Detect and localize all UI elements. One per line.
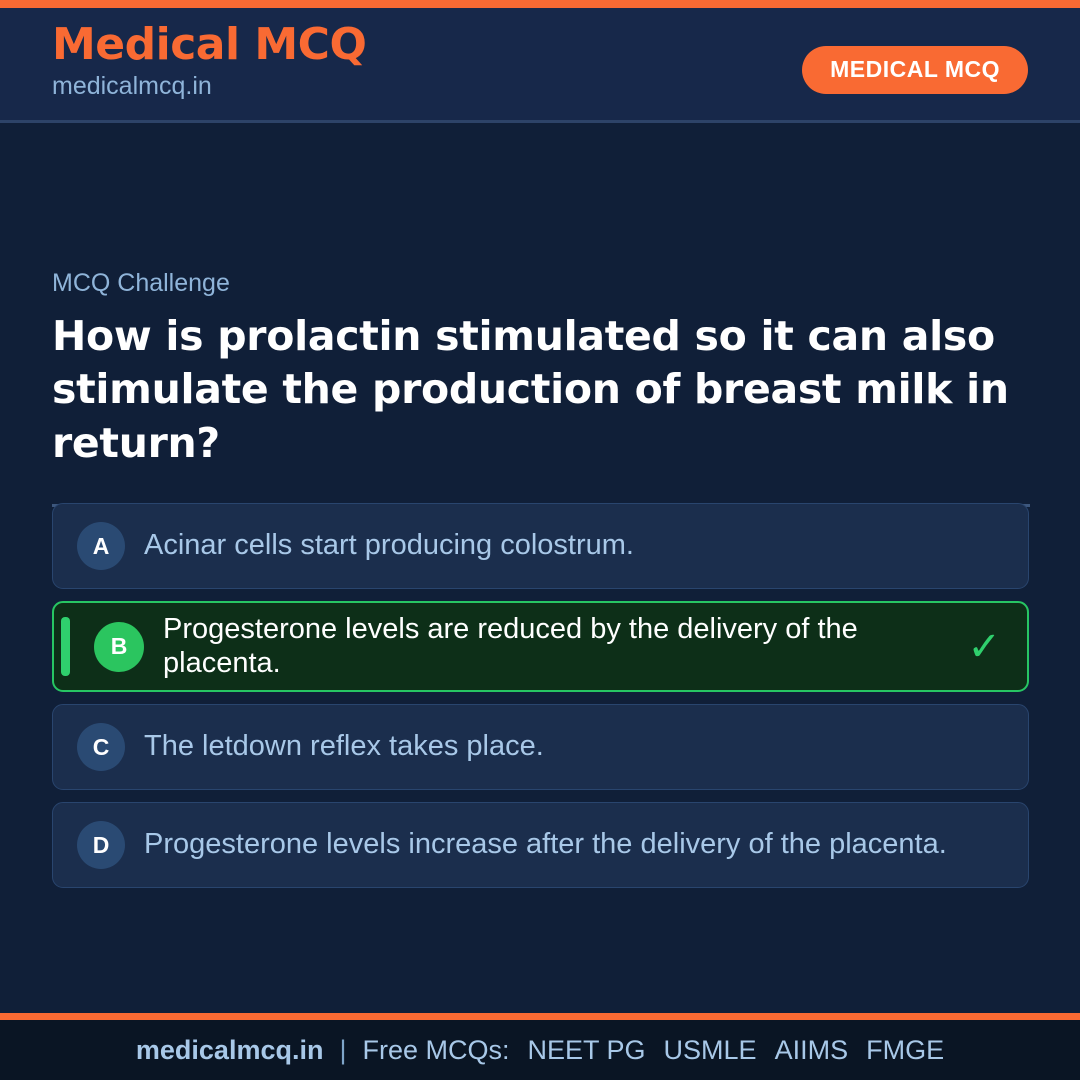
option-text: The letdown reflex takes place. [144,730,544,764]
option-letter-badge: C [77,723,125,771]
footer-exam-neetpg[interactable]: NEET PG [528,1035,646,1066]
option-card-c[interactable]: C The letdown reflex takes place. ✓ [52,704,1029,790]
question-text: How is prolactin stimulated so it can al… [52,310,1030,470]
footer-exam-usmle[interactable]: USMLE [664,1035,757,1066]
footer-separator: | [339,1035,346,1066]
option-card-a[interactable]: A Acinar cells start producing colostrum… [52,503,1029,589]
header-divider [0,120,1080,123]
footer-accent-bar [0,1013,1080,1020]
brand-subtitle: medicalmcq.in [52,71,366,101]
question-eyebrow-label: MCQ Challenge [52,268,1030,298]
options-list: A Acinar cells start producing colostrum… [52,503,1029,900]
header-badge: MEDICAL MCQ [802,46,1028,94]
correct-accent-bar [61,617,70,676]
option-letter-badge: D [77,821,125,869]
option-letter-badge: B [94,622,144,672]
footer-exam-fmge[interactable]: FMGE [866,1035,944,1066]
option-text: Progesterone levels are reduced by the d… [163,613,967,680]
top-accent-bar [0,0,1080,8]
brand-title: Medical MCQ [52,20,366,69]
option-text: Acinar cells start producing colostrum. [144,529,634,563]
footer-site-link[interactable]: medicalmcq.in [136,1035,324,1066]
question-section: MCQ Challenge How is prolactin stimulate… [52,268,1030,507]
brand-block: Medical MCQ medicalmcq.in [52,20,366,101]
option-card-d[interactable]: D Progesterone levels increase after the… [52,802,1029,888]
option-letter-badge: A [77,522,125,570]
option-card-b[interactable]: B Progesterone levels are reduced by the… [52,601,1029,692]
footer-band: medicalmcq.in | Free MCQs: NEET PG USMLE… [0,1013,1080,1080]
option-text: Progesterone levels increase after the d… [144,828,947,862]
footer-exam-aiims[interactable]: AIIMS [775,1035,849,1066]
footer-label: Free MCQs: [362,1035,509,1066]
footer-text: medicalmcq.in | Free MCQs: NEET PG USMLE… [0,1020,1080,1080]
check-icon: ✓ [967,627,1001,667]
